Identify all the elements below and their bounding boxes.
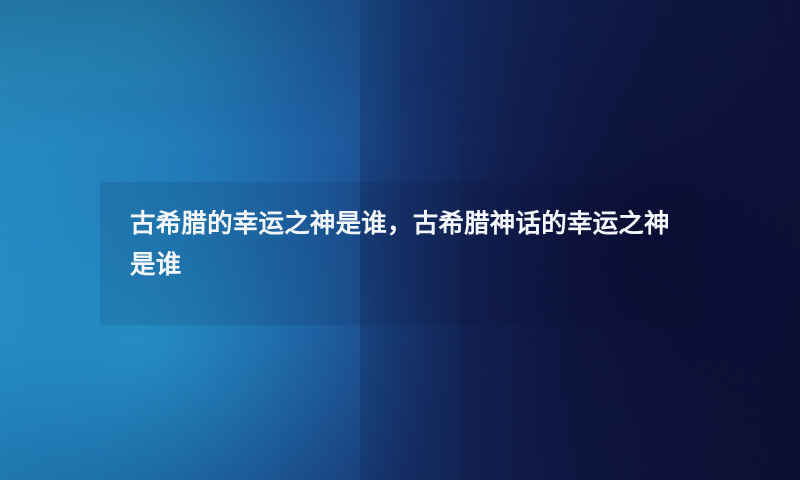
image-canvas: 古希腊的幸运之神是谁，古希腊神话的幸运之神是谁 bbox=[0, 0, 800, 480]
text-overlay-panel: 古希腊的幸运之神是谁，古希腊神话的幸运之神是谁 bbox=[100, 182, 700, 325]
headline-text: 古希腊的幸运之神是谁，古希腊神话的幸运之神是谁 bbox=[130, 204, 672, 286]
